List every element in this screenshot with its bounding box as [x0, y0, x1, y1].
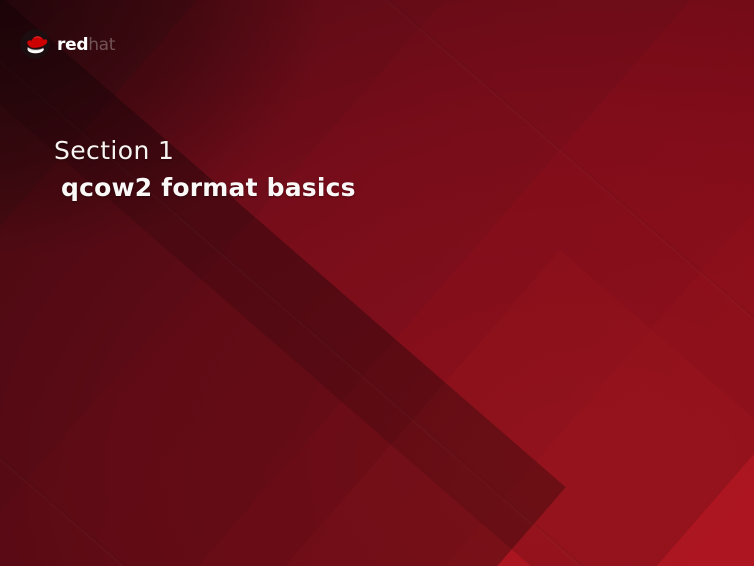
presentation-slide: red hat Section 1 qcow2 format basics	[0, 0, 754, 566]
wordmark-red: red	[57, 37, 88, 54]
slide-background	[0, 0, 754, 566]
redhat-wordmark: red hat	[57, 37, 115, 54]
section-kicker: Section 1	[54, 136, 356, 165]
wordmark-hat: hat	[88, 37, 115, 54]
redhat-logo: red hat	[20, 28, 115, 60]
background-vignette	[0, 0, 754, 566]
title-block: Section 1 qcow2 format basics	[54, 136, 356, 202]
redhat-shadowman-icon	[20, 29, 50, 59]
section-title: qcow2 format basics	[61, 173, 356, 202]
